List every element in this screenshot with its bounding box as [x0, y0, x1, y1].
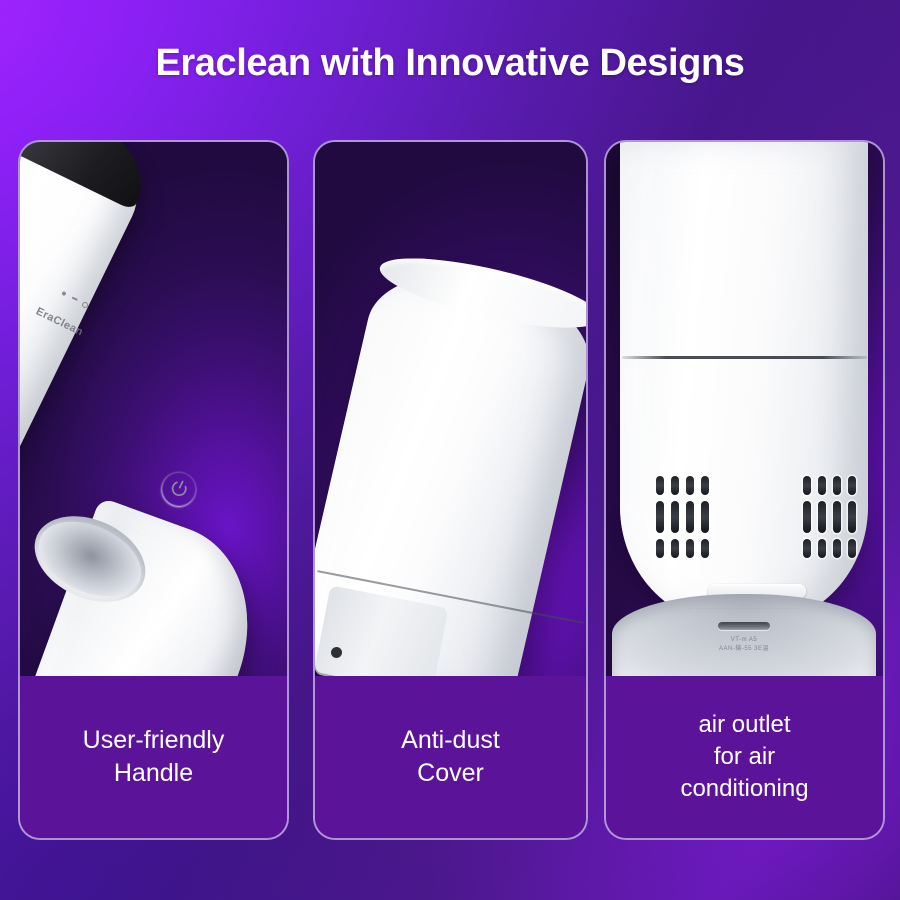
- feature-panel-user-friendly-handle[interactable]: EraClean User-friendly Handle: [18, 140, 289, 840]
- vent-slot: [656, 539, 664, 558]
- panel-caption-cover: Anti-dust Cover: [315, 676, 586, 838]
- product-photo-air-outlet: ········································…: [606, 142, 883, 680]
- vent-slot: [671, 539, 679, 558]
- product-photo-handle: EraClean: [20, 142, 287, 680]
- vent-slot: [803, 501, 811, 533]
- panel-caption-air-outlet: air outlet for air conditioning: [606, 676, 883, 838]
- caption-line-3: conditioning: [680, 775, 808, 802]
- vent-column: [848, 476, 856, 580]
- vent-slot: [803, 476, 811, 495]
- vent-slot: [818, 501, 826, 533]
- body-seam-line: [622, 356, 867, 359]
- caption-line-2: Handle: [114, 759, 193, 787]
- vent-slot: [656, 501, 664, 533]
- vent-slot: [701, 501, 709, 533]
- caption-line-1: Anti-dust: [401, 726, 500, 754]
- vent-slot: [656, 476, 664, 495]
- vent-slot: [833, 501, 841, 533]
- vent-column: [833, 476, 841, 580]
- vent-slot: [848, 539, 856, 558]
- caption-line-1: air outlet: [698, 711, 790, 738]
- air-outlet-vents: [656, 476, 856, 580]
- vent-slot: [848, 501, 856, 533]
- product-photo-cover: [315, 142, 586, 680]
- caption-line-2: Cover: [417, 759, 484, 787]
- vent-slot: [818, 539, 826, 558]
- base-arc-text: ········································: [629, 606, 859, 612]
- vent-slot: [803, 539, 811, 558]
- vent-group-left: [656, 476, 709, 580]
- caption-line-1: User-friendly: [83, 726, 225, 754]
- page-title: Eraclean with Innovative Designs: [0, 42, 900, 85]
- vent-slot: [686, 476, 694, 495]
- base-microtext-line-2: AAN-输-55 3E温: [669, 645, 819, 654]
- feature-panel-anti-dust-cover[interactable]: Anti-dust Cover: [313, 140, 588, 840]
- vent-slot: [833, 539, 841, 558]
- vent-slot: [848, 476, 856, 495]
- vent-column: [701, 476, 709, 580]
- feature-panel-air-outlet[interactable]: ········································…: [604, 140, 885, 840]
- panel-caption-handle: User-friendly Handle: [20, 676, 287, 838]
- bottom-vent-slot: [718, 622, 770, 630]
- vent-group-right: [803, 476, 856, 580]
- device-bottom-cap: ········································…: [612, 594, 876, 680]
- vent-slot: [701, 476, 709, 495]
- vent-slot: [818, 476, 826, 495]
- dash-indicator-icon: [72, 297, 78, 301]
- vent-slot: [686, 501, 694, 533]
- vent-slot: [833, 476, 841, 495]
- vent-slot: [671, 476, 679, 495]
- power-icon: [166, 476, 193, 503]
- vent-column: [686, 476, 694, 580]
- vent-column: [671, 476, 679, 580]
- vent-slot: [686, 539, 694, 558]
- vent-column: [803, 476, 811, 580]
- vent-slot: [701, 539, 709, 558]
- base-microtext: VT-m A5 AAN-输-55 3E温: [669, 636, 819, 654]
- vent-column: [656, 476, 664, 580]
- product-feature-banner: Eraclean with Innovative Designs EraClea…: [0, 0, 900, 900]
- base-microtext-line-1: VT-m A5: [669, 636, 819, 645]
- vent-column: [818, 476, 826, 580]
- dot-indicator-icon: [61, 291, 66, 296]
- vent-slot: [671, 501, 679, 533]
- caption-line-2: for air: [714, 743, 775, 770]
